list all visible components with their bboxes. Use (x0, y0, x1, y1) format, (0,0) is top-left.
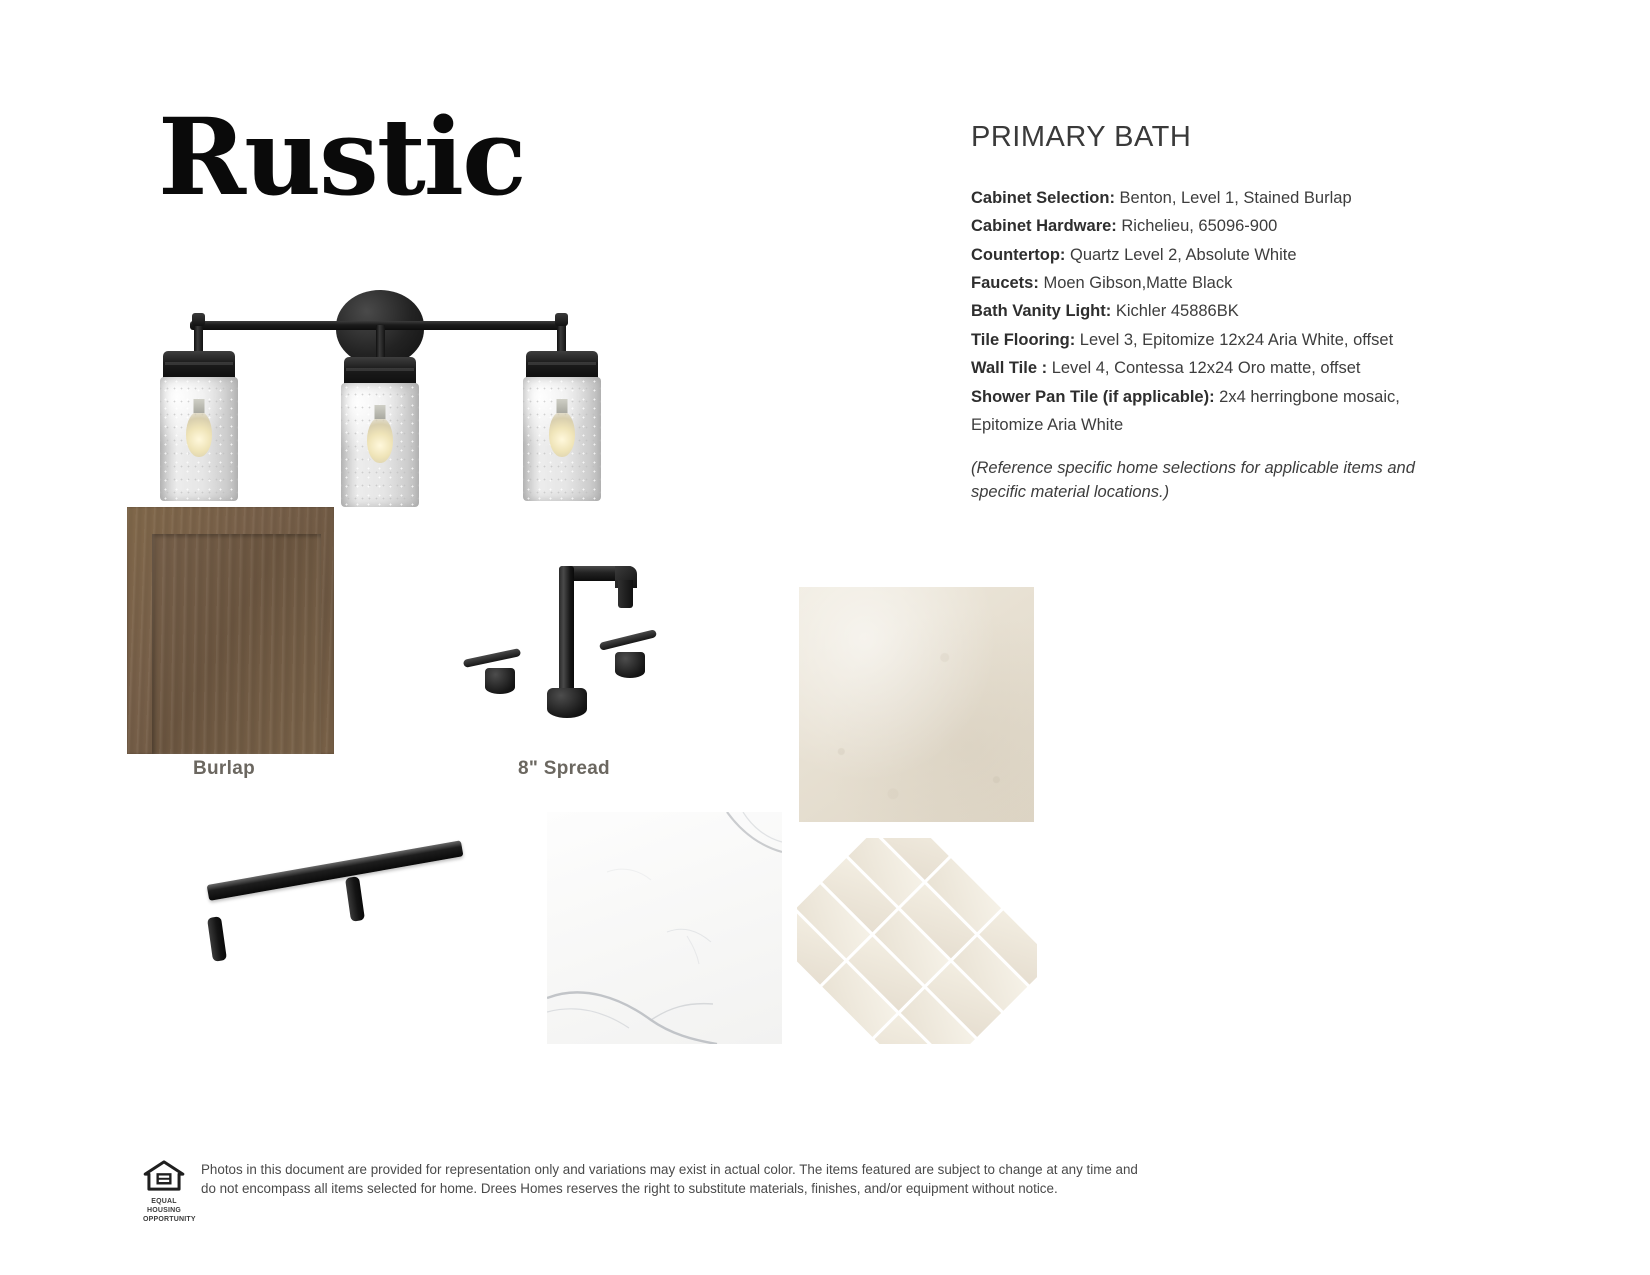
spec-label-cabinet-hardware: Cabinet Hardware: (971, 217, 1117, 235)
faucet-caption: 8" Spread (518, 758, 610, 780)
spec-value-cabinet-hardware: Richelieu, 65096-900 (1117, 217, 1278, 235)
footer: EQUAL HOUSING OPPORTUNITY Photos in this… (143, 1160, 1143, 1224)
spec-value-tile-flooring: Level 3, Epitomize 12x24 Aria White, off… (1075, 331, 1393, 349)
vanity-light-bulb-right (549, 411, 575, 457)
cabinet-door-caption: Burlap (193, 758, 255, 780)
faucet-handle-right (607, 636, 641, 662)
spec-item-faucets: Faucets: Moen Gibson,Matte Black (971, 269, 1423, 297)
faucet-spout-outlet (618, 580, 633, 608)
spec-reference-note: (Reference specific home selections for … (971, 457, 1423, 505)
faucet-handle-post-right (615, 652, 645, 678)
cabinet-pull-image (200, 855, 490, 975)
spec-item-bath-vanity-light: Bath Vanity Light: Kichler 45886BK (971, 297, 1423, 325)
spec-item-cabinet-hardware: Cabinet Hardware: Richelieu, 65096-900 (971, 212, 1423, 240)
spec-label-countertop: Countertop: (971, 246, 1065, 264)
spec-item-countertop: Countertop: Quartz Level 2, Absolute Whi… (971, 241, 1423, 269)
spec-value-countertop: Quartz Level 2, Absolute White (1065, 246, 1296, 264)
spec-value-wall-tile: Level 4, Contessa 12x24 Oro matte, offse… (1047, 359, 1360, 377)
spec-panel: PRIMARY BATH Cabinet Selection: Benton, … (971, 122, 1423, 505)
wall-tile-swatch (799, 587, 1034, 822)
spec-value-cabinet-selection: Benton, Level 1, Stained Burlap (1115, 189, 1352, 207)
equal-housing-label-line1: EQUAL HOUSING (147, 1198, 181, 1214)
spec-heading: PRIMARY BATH (971, 122, 1423, 154)
quartz-countertop-swatch (547, 812, 782, 1044)
cabinet-door-sample (127, 507, 334, 754)
spec-label-tile-flooring: Tile Flooring: (971, 331, 1075, 349)
spec-item-shower-pan-tile: Shower Pan Tile (if applicable): 2x4 her… (971, 383, 1423, 440)
cabinet-pull-bar (207, 840, 464, 901)
faucet-handle-post-left (485, 668, 515, 694)
spec-label-faucets: Faucets: (971, 274, 1039, 292)
vanity-light-endcap-left (192, 313, 205, 326)
spec-value-bath-vanity-light: Kichler 45886BK (1111, 302, 1239, 320)
spec-label-shower-pan-tile: Shower Pan Tile (if applicable): (971, 388, 1215, 406)
spec-item-tile-flooring: Tile Flooring: Level 3, Epitomize 12x24 … (971, 326, 1423, 354)
faucet-image (455, 540, 670, 740)
cabinet-pull-post-left (207, 916, 227, 962)
equal-housing-label-line2: OPPORTUNITY (143, 1216, 196, 1223)
spec-label-wall-tile: Wall Tile : (971, 359, 1047, 377)
cabinet-pull-post-right (345, 876, 365, 922)
vanity-light-bulb-left (186, 411, 212, 457)
spec-item-cabinet-selection: Cabinet Selection: Benton, Level 1, Stai… (971, 184, 1423, 212)
faucet-handle-lever-right (599, 629, 657, 651)
faucet-handle-lever-left (463, 648, 521, 668)
spec-label-cabinet-selection: Cabinet Selection: (971, 189, 1115, 207)
cabinet-door-center-panel (152, 534, 321, 754)
quartz-veining (547, 812, 782, 1044)
equal-housing-label: EQUAL HOUSING OPPORTUNITY (143, 1198, 185, 1224)
vanity-light-endcap-right (555, 313, 568, 326)
footer-disclaimer: Photos in this document are provided for… (201, 1160, 1143, 1199)
vanity-light-shade-center (341, 383, 419, 507)
spec-item-wall-tile: Wall Tile : Level 4, Contessa 12x24 Oro … (971, 354, 1423, 382)
faucet-handle-left (477, 652, 511, 678)
vanity-light-image (140, 285, 610, 490)
herringbone-pattern (797, 838, 1037, 1044)
vanity-light-shade-right (523, 377, 601, 501)
vanity-light-shade-left (160, 377, 238, 501)
spec-label-bath-vanity-light: Bath Vanity Light: (971, 302, 1111, 320)
spec-value-faucets: Moen Gibson,Matte Black (1039, 274, 1233, 292)
faucet-spout-vertical (559, 566, 574, 694)
equal-housing-icon (143, 1160, 185, 1192)
herringbone-mosaic-swatch (797, 838, 1037, 1044)
vanity-light-stem-center (376, 325, 385, 361)
equal-housing-opportunity-logo: EQUAL HOUSING OPPORTUNITY (143, 1160, 185, 1224)
page-title: Rustic (158, 104, 525, 210)
vanity-light-bulb-center (367, 417, 393, 463)
faucet-base (547, 688, 587, 718)
